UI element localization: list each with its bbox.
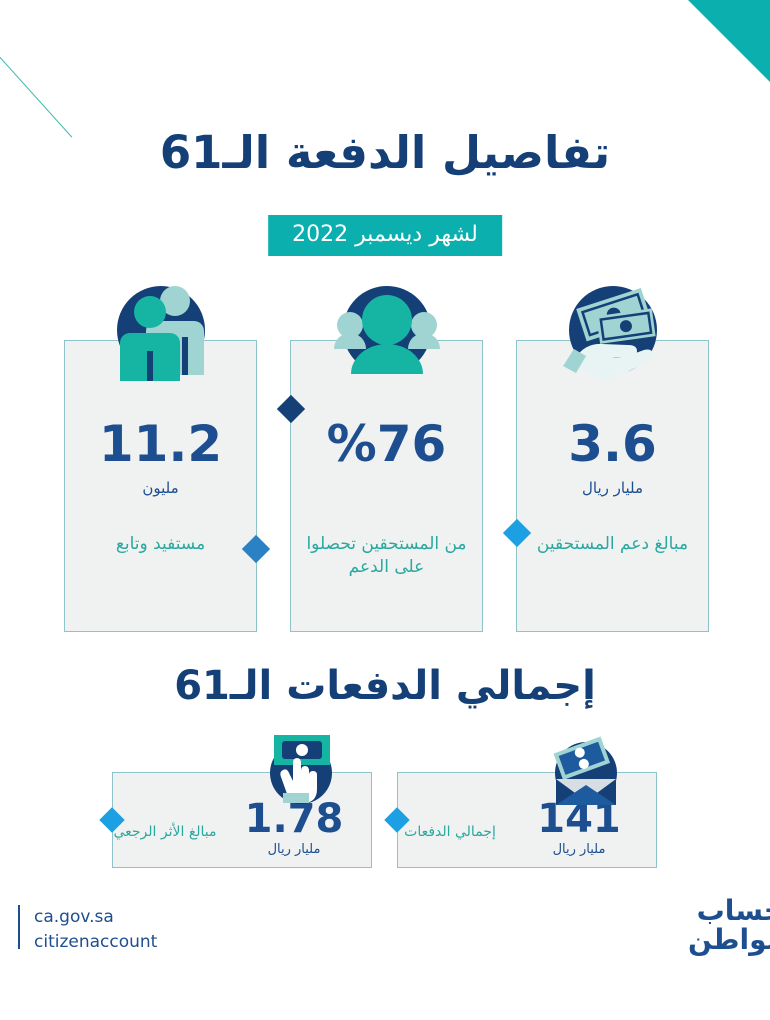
stat-label: مبالغ دعم المستحقين	[517, 533, 708, 556]
page-title: تفاصيل الدفعة الـ61	[0, 126, 770, 179]
two-people-icon	[106, 275, 216, 385]
total-card-all-payments: إجمالي الدفعات 141 مليار ريال	[397, 772, 657, 868]
stat-cards-row: 11.2 مليون مستفيد وتابع %76	[64, 340, 709, 632]
corner-diagonal-line-decoration	[0, 0, 72, 137]
stat-card-coverage: %76 من المستحقين تحصلوا على الدعم	[290, 340, 483, 632]
date-badge: لشهر ديسمبر 2022	[268, 215, 502, 256]
total-unit: مليار ريال	[217, 842, 371, 857]
hand-tap-banknote-icon	[263, 731, 339, 807]
hand-holding-cash-icon	[558, 275, 668, 385]
total-label: مبالغ الأثر الرجعي	[113, 797, 217, 843]
brand-logo-line1: حساب	[688, 896, 770, 925]
stat-unit: مليار ريال	[517, 479, 708, 497]
beneficiary-avatar-icon	[332, 275, 442, 385]
envelope-money-icon	[548, 731, 624, 807]
totals-cards-row: مبالغ الأثر الرجعي 1.78 مليار ريال	[112, 772, 657, 868]
stat-card-support-amount: 3.6 مليار ريال مبالغ دعم المستحقين	[516, 340, 709, 632]
footer-handle[interactable]: citizenaccount	[34, 930, 157, 955]
totals-title: إجمالي الدفعات الـ61	[0, 663, 770, 709]
footer-contact: ca.gov.sa citizenaccount	[18, 905, 157, 954]
stat-value: %76	[291, 419, 482, 469]
corner-triangle-decoration	[688, 0, 770, 82]
stat-value: 11.2	[65, 419, 256, 469]
stat-card-beneficiaries: 11.2 مليون مستفيد وتابع	[64, 340, 257, 632]
footer-website[interactable]: ca.gov.sa	[34, 905, 157, 930]
brand-logo: حساب مواطن	[688, 896, 770, 955]
footer-divider	[18, 905, 20, 949]
infographic-page: تفاصيل الدفعة الـ61 لشهر ديسمبر 2022 11.…	[0, 0, 770, 1020]
stat-label: من المستحقين تحصلوا على الدعم	[291, 533, 482, 579]
stat-value: 3.6	[517, 419, 708, 469]
footer-links: ca.gov.sa citizenaccount	[34, 905, 157, 954]
total-unit: مليار ريال	[502, 842, 656, 857]
stat-label: مستفيد وتابع	[65, 533, 256, 556]
total-card-retroactive: مبالغ الأثر الرجعي 1.78 مليار ريال	[112, 772, 372, 868]
brand-logo-line2: مواطن	[688, 925, 770, 954]
stat-unit: مليون	[65, 479, 256, 497]
total-label: إجمالي الدفعات	[398, 797, 502, 843]
